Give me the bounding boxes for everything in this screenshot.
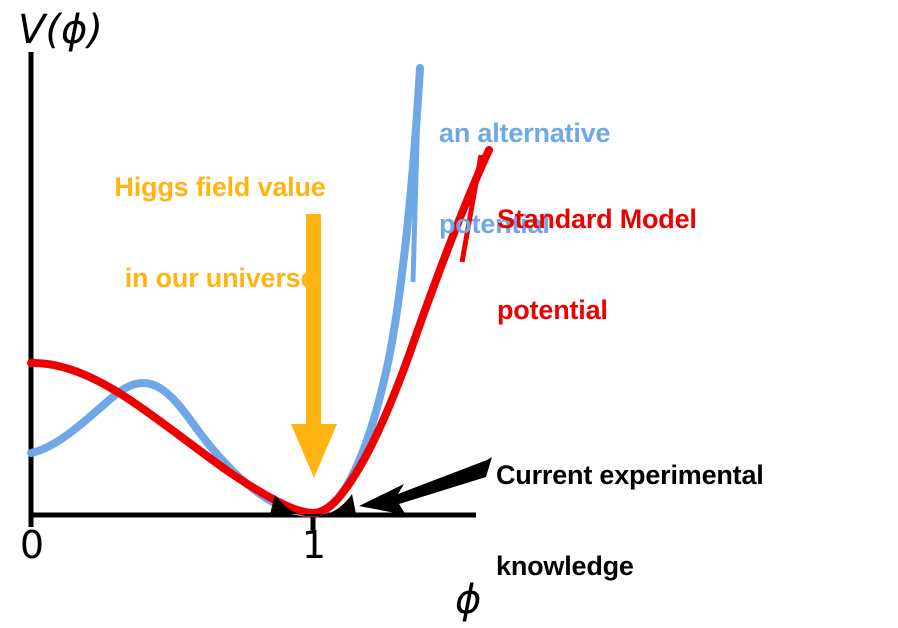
current-knowledge-annotation-line1: Current experimental [496,460,896,490]
x-tick-label-1: 1 [294,524,334,567]
standard-model-potential-annotation: Standard Model potential [497,144,797,386]
higgs-field-annotation: Higgs field value in our universe [57,112,383,354]
current-knowledge-annotation: Current experimental knowledge [496,400,896,628]
x-tick-label-0: 0 [12,524,52,567]
x-axis-title: ϕ [455,578,481,623]
standard-model-potential-annotation-line1: Standard Model [497,204,797,234]
higgs-field-annotation-line2: in our universe [57,263,383,293]
current-knowledge-annotation-line2: knowledge [496,551,896,581]
current-knowledge-pointer-arrow [359,457,492,515]
standard-model-potential-annotation-line2: potential [497,295,797,325]
y-axis-title: V(ϕ) [18,8,103,53]
higgs-potential-figure: V(ϕ) ϕ 0 1 Higgs field value in our univ… [0,0,898,628]
higgs-field-annotation-line1: Higgs field value [57,172,383,202]
